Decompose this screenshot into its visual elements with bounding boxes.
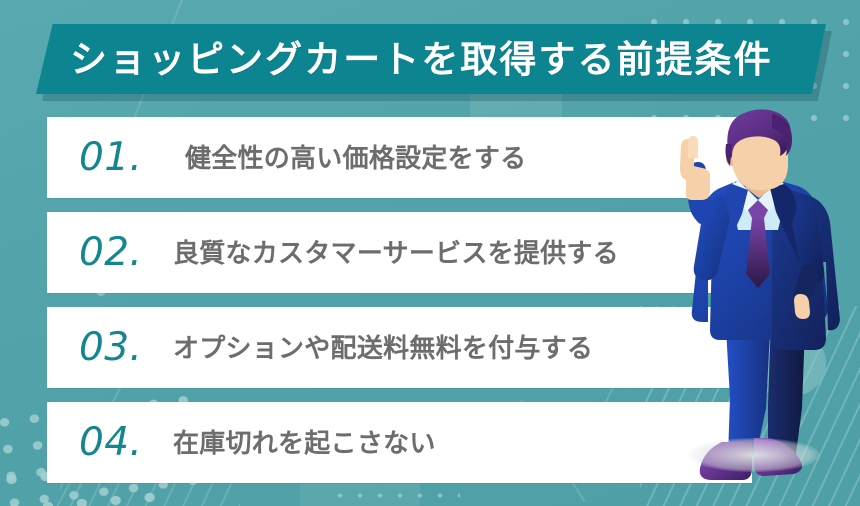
figure-ground-shadow <box>688 438 820 472</box>
list-item-number: 02. <box>79 233 173 272</box>
title-banner: ショッピングカートを取得する前提条件 <box>36 24 826 94</box>
index-finger <box>688 136 698 158</box>
item-list: 01. 健全性の高い価格設定をする 02. 良質なカスタマーサービスを提供する … <box>47 117 752 497</box>
list-item-label: オプションや配送料無料を付与する <box>173 335 593 361</box>
list-item-number: 04. <box>79 423 173 462</box>
list-item: 02. 良質なカスタマーサービスを提供する <box>47 212 752 293</box>
title-banner-body: ショッピングカートを取得する前提条件 <box>36 24 826 94</box>
list-item-label: 良質なカスタマーサービスを提供する <box>173 240 619 266</box>
list-item: 01. 健全性の高い価格設定をする <box>47 117 752 198</box>
infographic-canvas: ショッピングカートを取得する前提条件 01. 健全性の高い価格設定をする 02.… <box>0 0 860 506</box>
list-item: 03. オプションや配送料無料を付与する <box>47 307 752 388</box>
businessman-illustration <box>660 108 860 506</box>
list-item-label: 在庫切れを起こさない <box>173 430 436 456</box>
list-item: 04. 在庫切れを起こさない <box>47 402 752 483</box>
right-hand <box>794 294 810 319</box>
list-item-label: 健全性の高い価格設定をする <box>185 145 526 171</box>
list-item-number: 03. <box>79 328 173 367</box>
page-title: ショッピングカートを取得する前提条件 <box>70 41 773 78</box>
list-item-number: 01. <box>79 138 173 177</box>
